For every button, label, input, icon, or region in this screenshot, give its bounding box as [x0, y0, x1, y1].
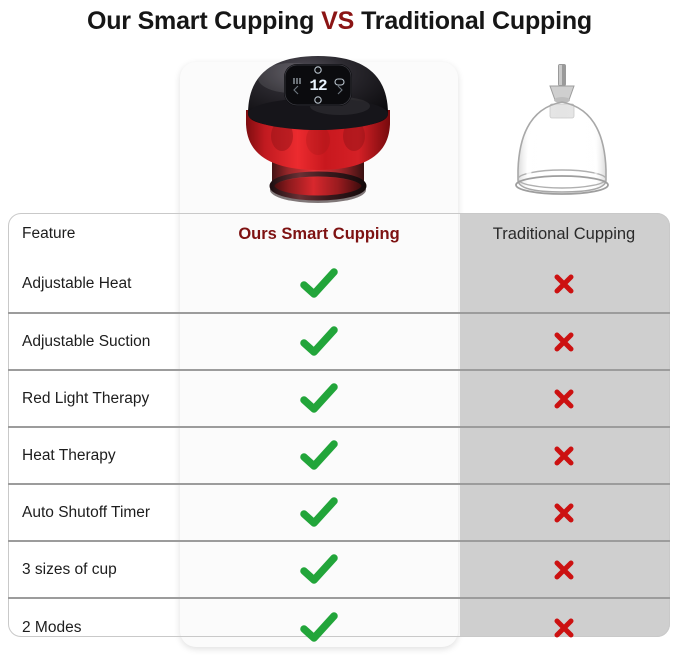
table-rows: Adjustable HeatAdjustable SuctionRed Lig… [8, 255, 670, 657]
comparison-table: Feature Ours Smart Cupping Traditional C… [8, 213, 670, 637]
feature-label: Heat Therapy [8, 428, 180, 483]
table-row: Adjustable Heat [8, 255, 670, 312]
check-icon [180, 599, 458, 657]
table-row: Red Light Therapy [8, 369, 670, 426]
title-part-2: Traditional Cupping [361, 7, 592, 36]
table-row: Heat Therapy [8, 426, 670, 483]
header-cell-feature: Feature [8, 213, 180, 255]
feature-label: Adjustable Suction [8, 314, 180, 369]
cross-icon [458, 255, 670, 312]
traditional-cupping-cup-image [498, 52, 628, 210]
header-cell-traditional: Traditional Cupping [458, 213, 670, 255]
table-row: 2 Modes [8, 597, 670, 657]
table-row: Auto Shutoff Timer [8, 483, 670, 540]
cross-icon [458, 599, 670, 657]
title-part-1: Our Smart Cupping [87, 7, 314, 36]
product-images: 12 [0, 44, 679, 214]
check-icon [180, 428, 458, 483]
header-cell-ours: Ours Smart Cupping [180, 213, 458, 255]
feature-label: 3 sizes of cup [8, 542, 180, 597]
check-icon [180, 255, 458, 312]
cross-icon [458, 314, 670, 369]
check-icon [180, 542, 458, 597]
cross-icon [458, 485, 670, 540]
table-row: 3 sizes of cup [8, 540, 670, 597]
table-row: Adjustable Suction [8, 312, 670, 369]
feature-label: 2 Modes [8, 599, 180, 657]
check-icon [180, 485, 458, 540]
feature-label: Adjustable Heat [8, 255, 180, 312]
check-icon [180, 314, 458, 369]
cross-icon [458, 428, 670, 483]
table-header-row: Feature Ours Smart Cupping Traditional C… [8, 213, 670, 255]
cross-icon [458, 542, 670, 597]
title-vs: VS [321, 7, 354, 36]
smart-cupping-device-image: 12 [236, 50, 400, 210]
feature-label: Red Light Therapy [8, 371, 180, 426]
check-icon [180, 371, 458, 426]
page-title: Our Smart Cupping VS Traditional Cupping [0, 0, 679, 42]
cross-icon [458, 371, 670, 426]
device-display-value: 12 [309, 77, 327, 95]
feature-label: Auto Shutoff Timer [8, 485, 180, 540]
